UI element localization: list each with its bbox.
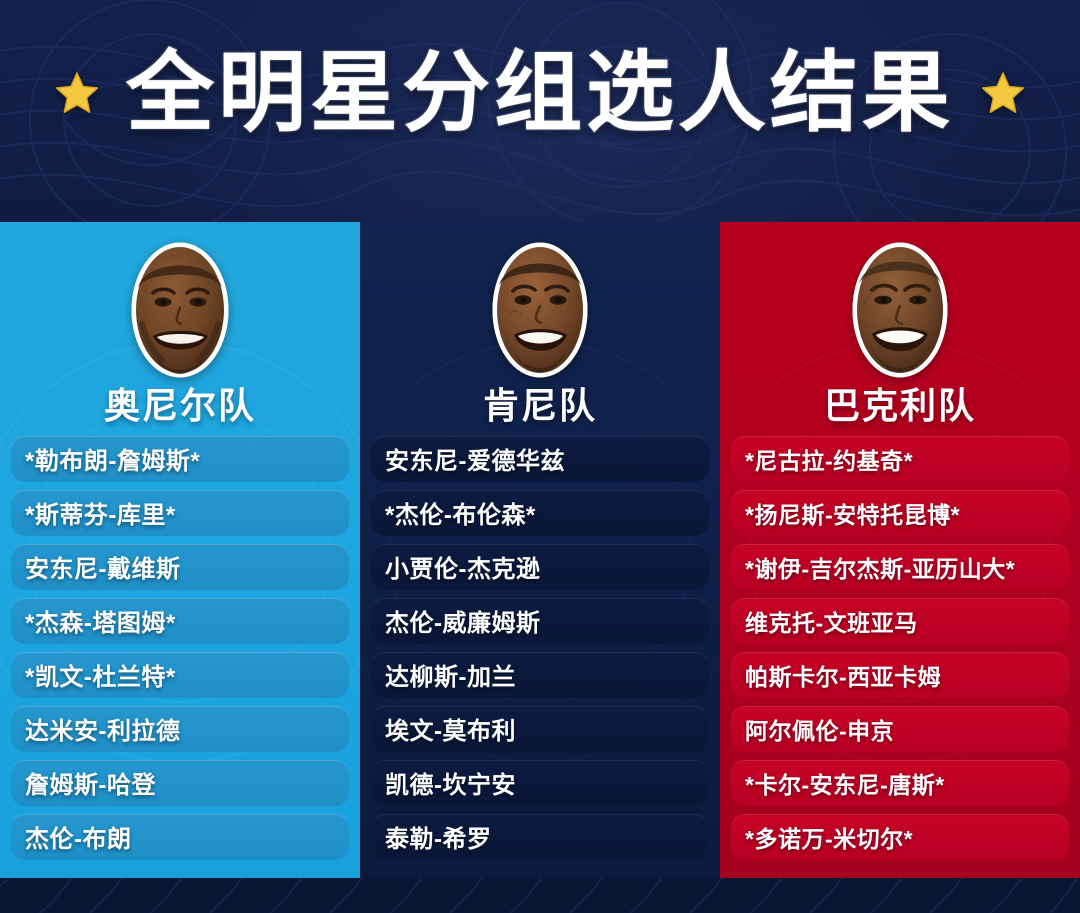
player-name: *扬尼斯-安特托昆博* <box>745 496 960 530</box>
player-row[interactable]: *斯蒂芬-库里* <box>11 490 349 536</box>
player-row[interactable]: *谢伊-吉尔杰斯-亚历山大* <box>731 544 1069 590</box>
teams-board: 奥尼尔队 *勒布朗-詹姆斯* *斯蒂芬-库里* 安东尼-戴维斯 *杰森-塔图姆*… <box>0 222 1080 878</box>
poster-header: 全明星分组选人结果 <box>0 0 1080 222</box>
player-name: *尼古拉-约基奇* <box>745 442 913 476</box>
team-name-barkley: 巴克利队 <box>824 386 976 426</box>
kenny-smith-portrait <box>480 236 600 382</box>
player-row[interactable]: 达米安-利拉德 <box>11 706 349 752</box>
player-name: 达柳斯-加兰 <box>385 657 516 692</box>
player-row[interactable]: *扬尼斯-安特托昆博* <box>731 490 1069 536</box>
player-row[interactable]: 达柳斯-加兰 <box>371 652 709 698</box>
player-row[interactable]: 杰伦-布朗 <box>11 814 349 860</box>
player-name: *斯蒂芬-库里* <box>25 495 176 530</box>
player-row[interactable]: 凯德-坎宁安 <box>371 760 709 806</box>
page-title: 全明星分组选人结果 <box>126 49 954 137</box>
player-name: 小贾伦-杰克逊 <box>385 549 541 584</box>
player-row[interactable]: 安东尼-戴维斯 <box>11 544 349 590</box>
player-name: *谢伊-吉尔杰斯-亚历山大* <box>745 550 1015 584</box>
poster-root: 全明星分组选人结果 <box>0 0 1080 913</box>
player-row[interactable]: 泰勒-希罗 <box>371 814 709 860</box>
player-row[interactable]: 帕斯卡尔-西亚卡姆 <box>731 652 1069 698</box>
team-column-barkley: 巴克利队 *尼古拉-约基奇* *扬尼斯-安特托昆博* *谢伊-吉尔杰斯-亚历山大… <box>720 222 1080 878</box>
player-name: *多诺万-米切尔* <box>745 820 913 854</box>
player-row[interactable]: 安东尼-爱德华兹 <box>371 436 709 482</box>
player-name: 杰伦-威廉姆斯 <box>385 603 541 638</box>
player-row[interactable]: 杰伦-威廉姆斯 <box>371 598 709 644</box>
player-name: 埃文-莫布利 <box>385 711 516 746</box>
player-name: 泰勒-希罗 <box>385 819 492 854</box>
player-row[interactable]: 维克托-文班亚马 <box>731 598 1069 644</box>
player-row[interactable]: *凯文-杜兰特* <box>11 652 349 698</box>
player-name: 安东尼-戴维斯 <box>25 549 181 584</box>
player-row[interactable]: 阿尔佩伦-申京 <box>731 706 1069 752</box>
team-name-oneal: 奥尼尔队 <box>104 386 256 426</box>
player-name: *杰伦-布伦森* <box>385 495 536 530</box>
player-row[interactable]: *尼古拉-约基奇* <box>731 436 1069 482</box>
player-name: 安东尼-爱德华兹 <box>385 441 565 476</box>
player-name: 达米安-利拉德 <box>25 711 181 746</box>
player-name: 詹姆斯-哈登 <box>25 765 156 800</box>
player-row[interactable]: *勒布朗-詹姆斯* <box>11 436 349 482</box>
team-column-oneal: 奥尼尔队 *勒布朗-詹姆斯* *斯蒂芬-库里* 安东尼-戴维斯 *杰森-塔图姆*… <box>0 222 360 878</box>
shaquille-oneal-portrait <box>120 236 240 382</box>
charles-barkley-portrait <box>840 236 960 382</box>
player-name: 帕斯卡尔-西亚卡姆 <box>745 658 941 692</box>
player-name: 阿尔佩伦-申京 <box>745 712 894 746</box>
player-name: 维克托-文班亚马 <box>745 604 918 638</box>
player-row[interactable]: *卡尔-安东尼-唐斯* <box>731 760 1069 806</box>
player-row[interactable]: *多诺万-米切尔* <box>731 814 1069 860</box>
star-icon <box>54 70 100 116</box>
player-list-kenny: 安东尼-爱德华兹 *杰伦-布伦森* 小贾伦-杰克逊 杰伦-威廉姆斯 达柳斯-加兰… <box>360 436 720 860</box>
team-name-kenny: 肯尼队 <box>483 386 597 426</box>
player-list-barkley: *尼古拉-约基奇* *扬尼斯-安特托昆博* *谢伊-吉尔杰斯-亚历山大* 维克托… <box>720 436 1080 860</box>
player-name: *凯文-杜兰特* <box>25 657 176 692</box>
star-icon <box>980 70 1026 116</box>
player-row[interactable]: 詹姆斯-哈登 <box>11 760 349 806</box>
player-name: *勒布朗-詹姆斯* <box>25 441 200 476</box>
team-column-kenny: 肯尼队 安东尼-爱德华兹 *杰伦-布伦森* 小贾伦-杰克逊 杰伦-威廉姆斯 达柳… <box>360 222 720 878</box>
player-row[interactable]: *杰伦-布伦森* <box>371 490 709 536</box>
player-row[interactable]: 小贾伦-杰克逊 <box>371 544 709 590</box>
player-name: 杰伦-布朗 <box>25 819 132 854</box>
player-name: *卡尔-安东尼-唐斯* <box>745 766 945 800</box>
player-row[interactable]: 埃文-莫布利 <box>371 706 709 752</box>
player-row[interactable]: *杰森-塔图姆* <box>11 598 349 644</box>
player-list-oneal: *勒布朗-詹姆斯* *斯蒂芬-库里* 安东尼-戴维斯 *杰森-塔图姆* *凯文-… <box>0 436 360 860</box>
player-name: *杰森-塔图姆* <box>25 603 176 638</box>
player-name: 凯德-坎宁安 <box>385 765 516 800</box>
